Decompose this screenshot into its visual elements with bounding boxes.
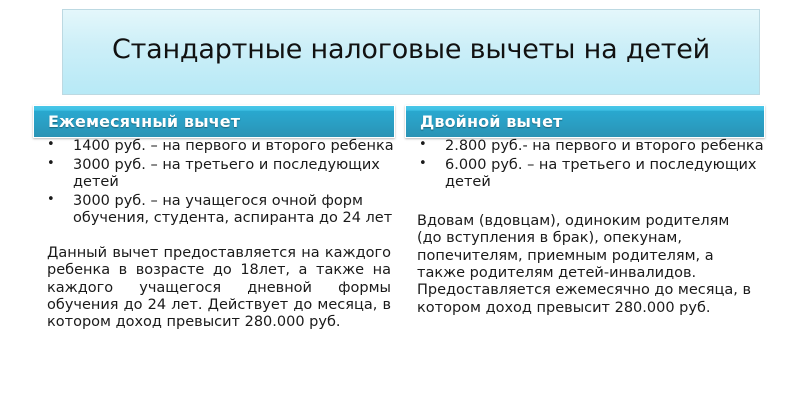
list-item: 6.000 руб. – на третьего и последующих д…	[405, 157, 765, 191]
bullet-list-monthly: 1400 руб. – на первого и второго ребенка…	[33, 138, 395, 227]
column-double-deduction: Двойной вычет 2.800 руб.- на первого и в…	[405, 105, 765, 317]
list-item: 3000 руб. – на учащегося очной форм обуч…	[33, 193, 395, 227]
list-item: 1400 руб. – на первого и второго ребенка	[33, 138, 395, 155]
slide-title-box: Стандартные налоговые вычеты на детей	[62, 9, 760, 95]
column-header-monthly: Ежемесячный вычет	[33, 105, 395, 138]
bullet-list-double: 2.800 руб.- на первого и второго ребенка…	[405, 138, 765, 191]
column-monthly-deduction: Ежемесячный вычет 1400 руб. – на первого…	[33, 105, 395, 332]
paragraph-monthly-note: Данный вычет предоставляется на каждого …	[47, 245, 391, 332]
paragraph-double-note: Вдовам (вдовцам), одиноким родителям (до…	[417, 213, 755, 317]
column-header-double-label: Двойной вычет	[420, 112, 562, 131]
page-title: Стандартные налоговые вычеты на детей	[112, 35, 710, 65]
column-header-monthly-label: Ежемесячный вычет	[48, 112, 240, 131]
list-item: 3000 руб. – на третьего и последующих де…	[33, 157, 395, 191]
column-header-double: Двойной вычет	[405, 105, 765, 138]
slide-canvas: Стандартные налоговые вычеты на детей Еж…	[0, 0, 800, 400]
list-item: 2.800 руб.- на первого и второго ребенка	[405, 138, 765, 155]
